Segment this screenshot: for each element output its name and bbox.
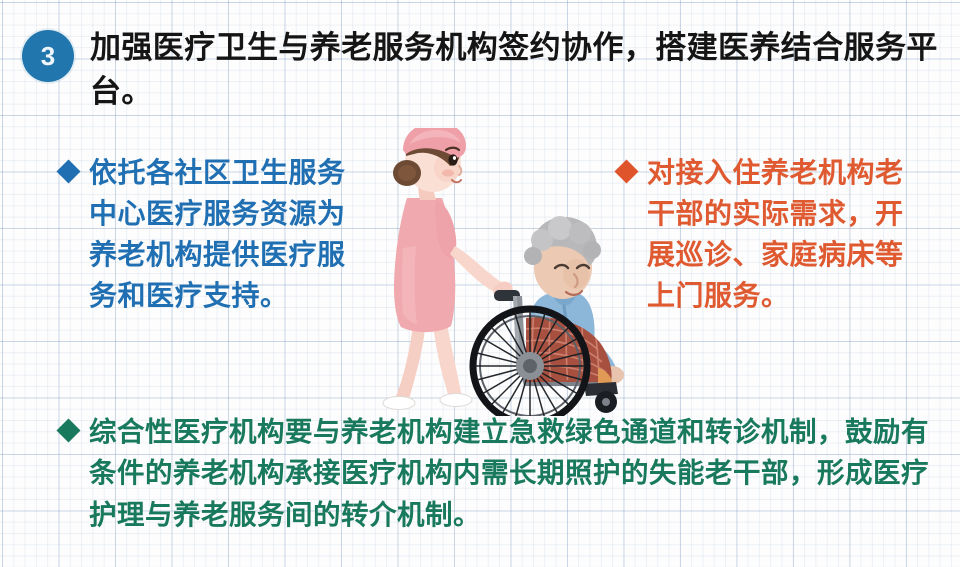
nurse-mouth [452,180,461,182]
nurse-eye-glint [453,156,456,160]
bullet-text-bottom: 综合性医疗机构要与养老机构建立急救绿色通道和转诊机制，鼓励有条件的养老机构承接医… [89,411,940,535]
elder-hair-curl [583,241,601,259]
diamond-bullet-icon [56,418,80,442]
elder-hair-curl [524,247,542,265]
header: 3 加强医疗卫生与养老服务机构签约协作，搭建医养结合服务平台。 [22,26,938,114]
diamond-bullet-icon [56,159,80,183]
bullet-item-left: 依托各社区卫生服务中心医疗服务资源为养老机构提供医疗服务和医疗支持。 [60,152,350,317]
poster-canvas: 3 加强医疗卫生与养老服务机构签约协作，搭建医养结合服务平台。 依托各社区卫生服… [0,0,960,567]
elder-hair-curl [548,216,572,240]
nurse-wheelchair-illustration [370,128,624,416]
bullet-text-left: 依托各社区卫生服务中心医疗服务资源为养老机构提供医疗服务和医疗支持。 [89,152,350,317]
wheelchair-caster-hub [602,398,610,406]
bullet-item-bottom: 综合性医疗机构要与养老机构建立急救绿色通道和转诊机制，鼓励有条件的养老机构承接医… [60,411,940,535]
step-number-badge: 3 [22,30,74,82]
nurse-front-leg [433,323,462,399]
bullet-item-right: 对接入住养老机构老干部的实际需求，开展巡诊、家庭病床等上门服务。 [618,152,918,317]
page-title: 加强医疗卫生与养老服务机构签约协作，搭建医养结合服务平台。 [90,26,938,114]
nurse-blush [442,169,454,176]
nurse-front-shoe [440,394,472,407]
nurse-back-leg [395,324,425,402]
bullet-text-right: 对接入住养老机构老干部的实际需求，开展巡诊、家庭病床等上门服务。 [647,152,918,317]
nurse-eye [448,154,457,165]
elder-hair-curl [569,222,591,244]
nurse-back-shoe [383,397,415,410]
nurse-hair-bun-highlight [398,165,416,181]
